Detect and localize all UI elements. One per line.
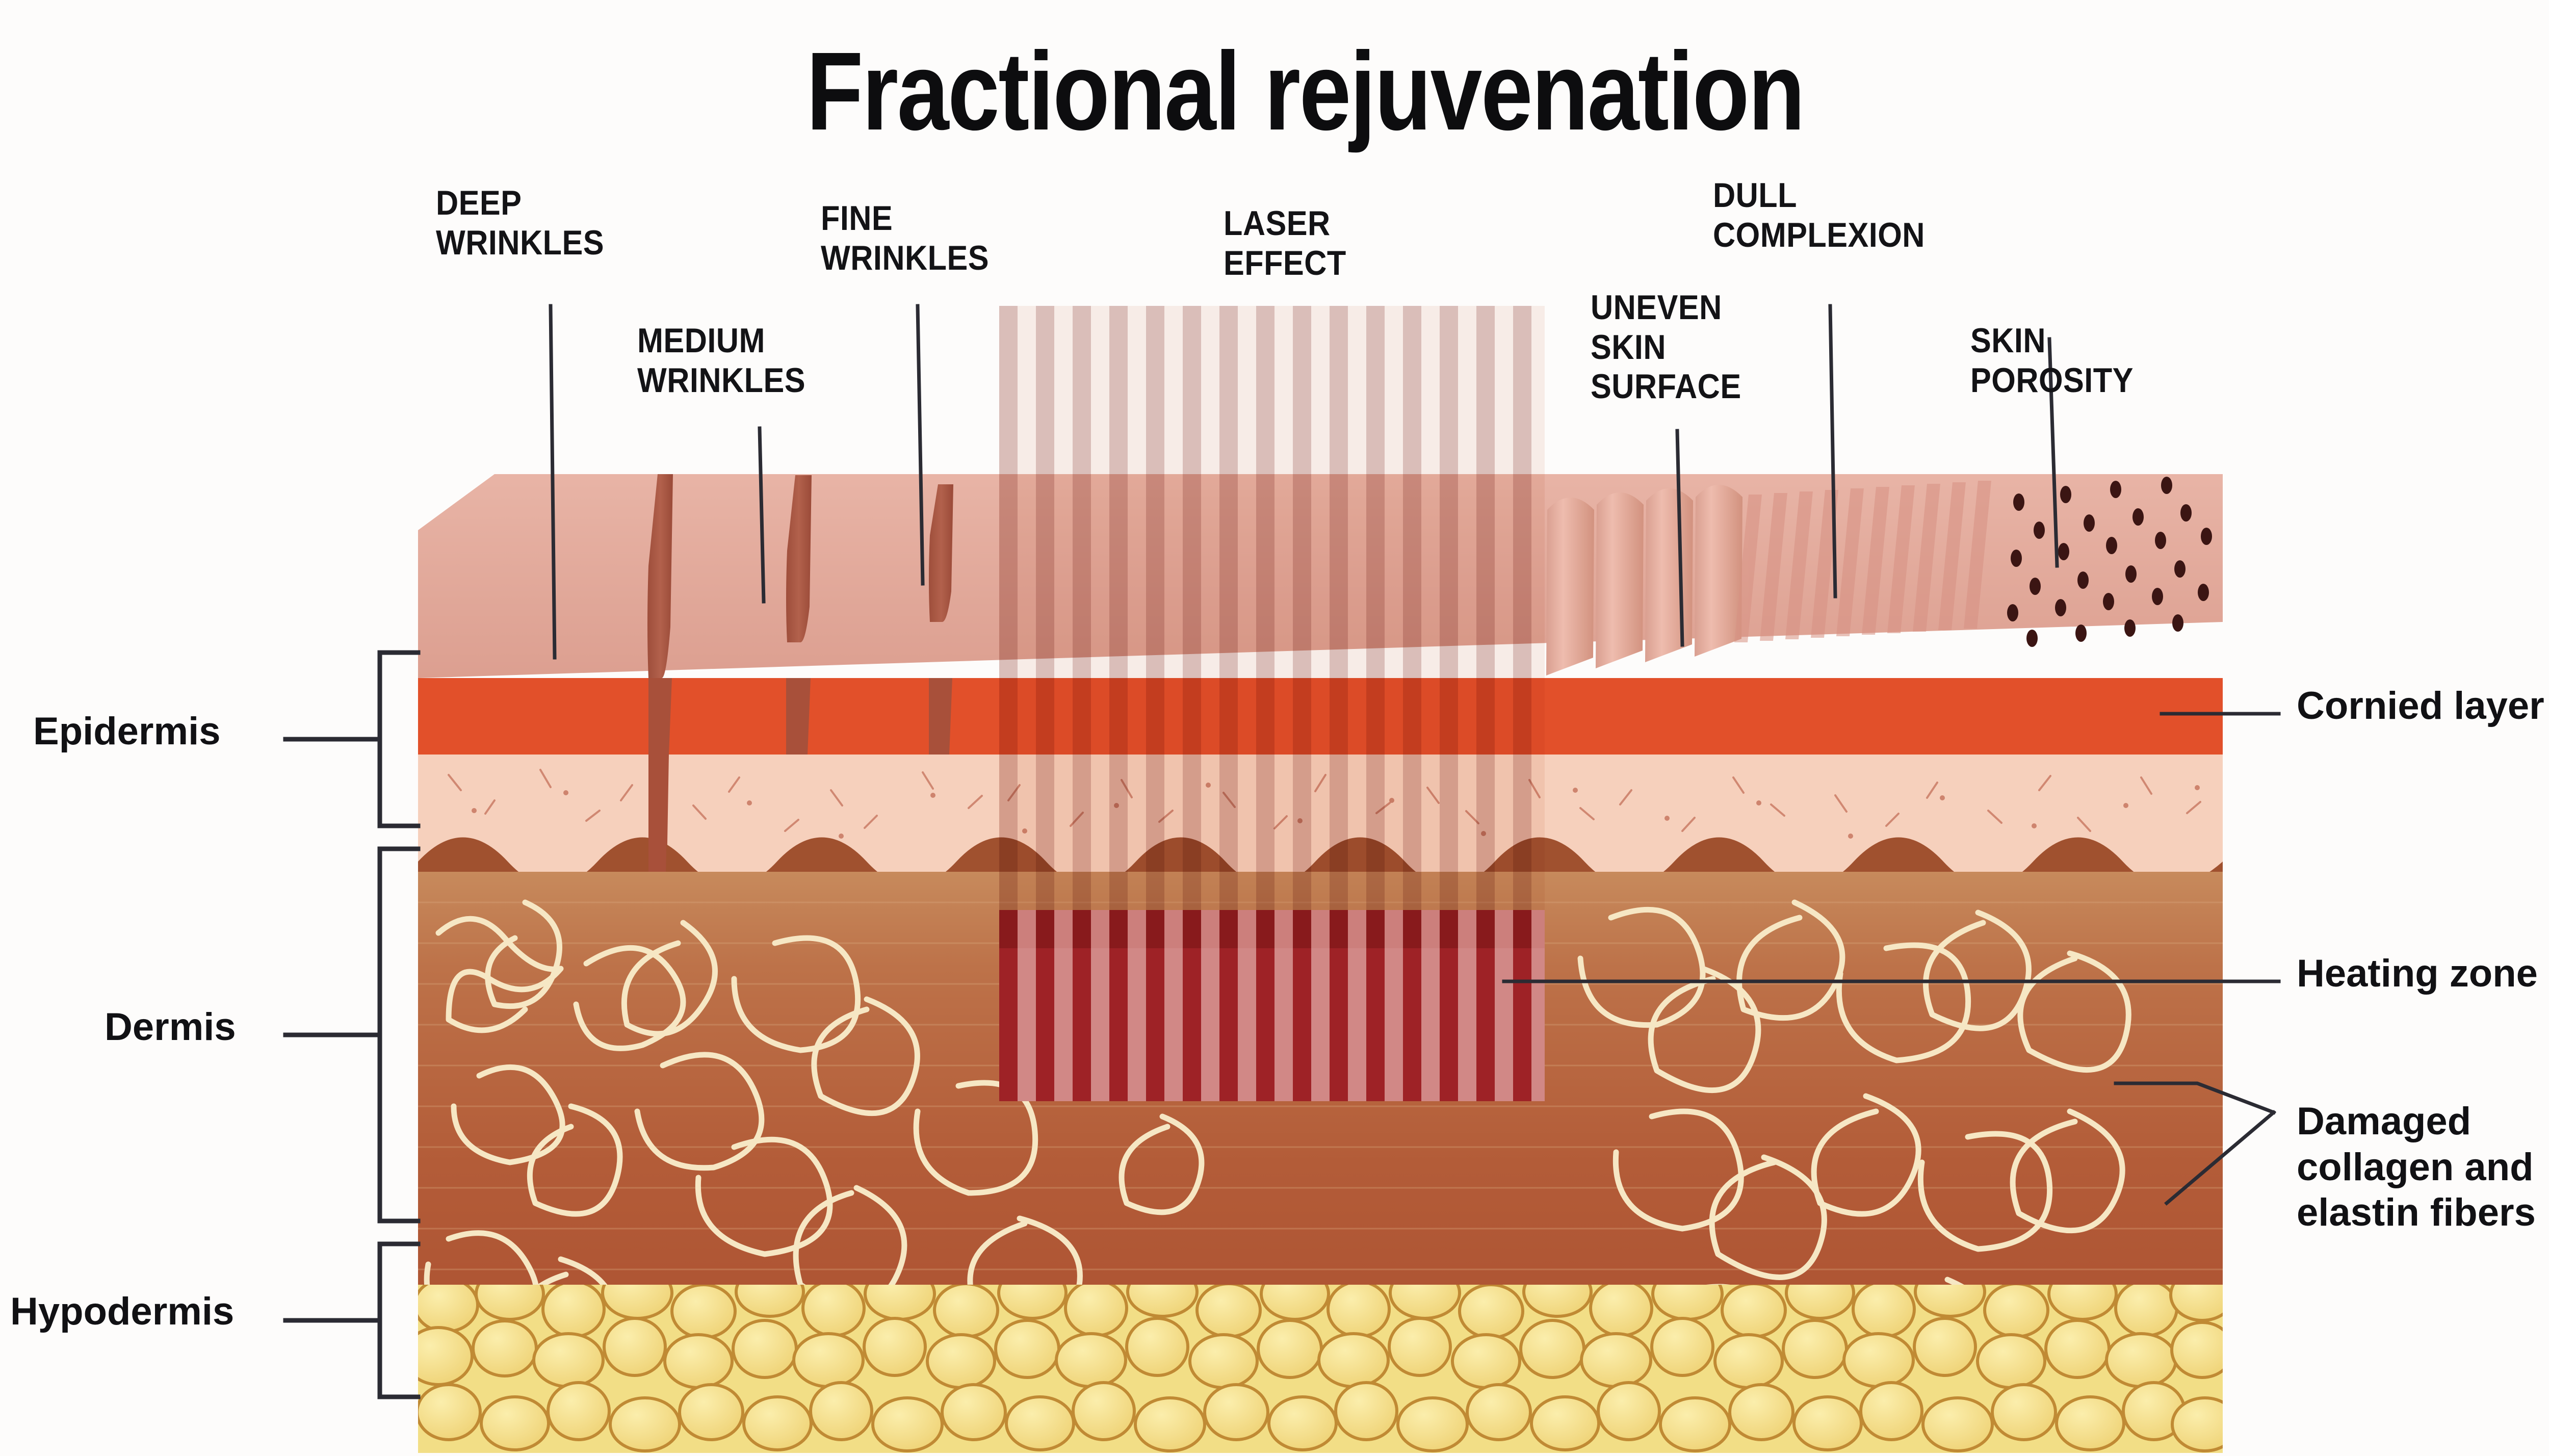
callout-dull-complexion: DULL COMPLEXION: [1713, 176, 1925, 255]
hypodermis-band: [418, 1285, 2223, 1453]
callout-laser-effect: LASER EFFECT: [1224, 204, 1346, 283]
callout-fine-wrinkles: FINE WRINKLES: [821, 199, 989, 278]
layer-label-hypodermis: Hypodermis: [10, 1289, 234, 1335]
laser-beam: [999, 306, 1545, 948]
bracket-dermis: [380, 849, 418, 1221]
skin-cross-section: [418, 474, 2223, 1392]
callout-uneven-skin-surface: UNEVEN SKIN SURFACE: [1591, 288, 1741, 407]
laser-beam-stripes: [999, 306, 1545, 948]
layer-label-dermis: Dermis: [105, 1004, 236, 1050]
callout-medium-wrinkles: MEDIUM WRINKLES: [637, 321, 805, 400]
page-title: Fractional rejuvenation: [209, 28, 2402, 155]
label-heating-zone: Heating zone: [2297, 951, 2538, 997]
callout-deep-wrinkles: DEEP WRINKLES: [436, 184, 604, 263]
label-damaged-fibers: Damaged collagen and elastin fibers: [2297, 1099, 2536, 1236]
bracket-hypodermis: [380, 1244, 418, 1397]
fat-cells: [418, 1285, 2223, 1451]
bracket-epidermis: [380, 653, 418, 826]
label-cornied-layer: Cornied layer: [2297, 683, 2544, 729]
callout-skin-porosity: SKIN POROSITY: [1970, 321, 2134, 400]
illustration-canvas: Fractional rejuvenation: [0, 0, 2549, 1456]
layer-label-epidermis: Epidermis: [33, 709, 220, 755]
